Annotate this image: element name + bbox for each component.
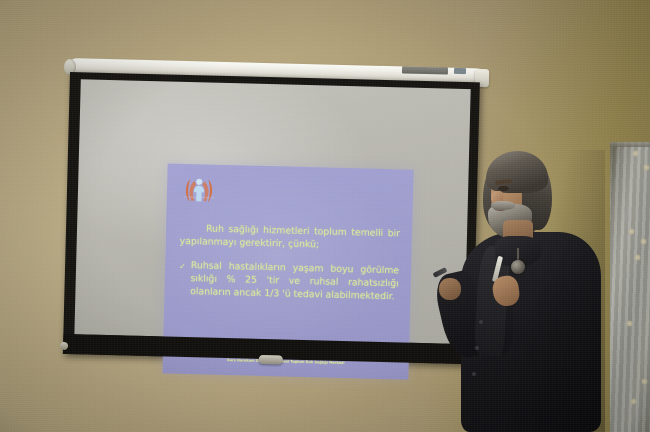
screen-fabric-surface: T.C. SAĞLIK BAKANLIĞI Ruh sağlığı hizmet…	[74, 79, 470, 344]
slide-bullet-text: Ruhsal hastalıkların yaşam boyu görülme …	[190, 261, 399, 305]
curtain-floral-motif	[641, 378, 648, 385]
curtain-floral-motif	[634, 254, 641, 261]
screen-anchor-pin-left	[60, 342, 68, 350]
presenter-left-hand	[439, 278, 461, 300]
jacket-button	[472, 372, 476, 376]
lace-curtain	[610, 142, 650, 432]
curtain-rod	[610, 142, 650, 147]
curtain-floral-motif	[640, 238, 647, 245]
curtain-floral-motif	[630, 398, 637, 405]
projection-screen-unit: T.C. SAĞLIK BAKANLIĞI Ruh sağlığı hizmet…	[58, 58, 483, 355]
curtain-floral-motif	[626, 320, 633, 327]
slide-text-body: Ruh sağlığı hizmetleri toplum temelli bi…	[164, 221, 412, 304]
curtain-floral-motif	[632, 150, 639, 157]
slide-lead-paragraph: Ruh sağlığı hizmetleri toplum temelli bi…	[180, 222, 401, 254]
screen-pull-handle[interactable]	[259, 355, 283, 365]
roller-spec-label	[402, 66, 448, 74]
curtain-floral-motif	[643, 164, 650, 171]
checkmark-icon: ✓	[179, 260, 186, 273]
photo-scene: T.C. SAĞLIK BAKANLIĞI Ruh sağlığı hizmet…	[0, 0, 650, 432]
presenter-mustache	[491, 201, 515, 210]
screen-black-frame: T.C. SAĞLIK BAKANLIĞI Ruh sağlığı hizmet…	[63, 72, 480, 364]
jacket-button	[479, 320, 483, 324]
presenter-hair-top	[486, 151, 548, 193]
curtain-floral-motif	[628, 228, 635, 235]
logo-caption: T.C. SAĞLIK BAKANLIĞI	[173, 196, 225, 201]
jacket-button	[475, 346, 479, 350]
presenter-person	[455, 150, 605, 432]
slide-bullet-item: ✓ Ruhsal hastalıkların yaşam boyu görülm…	[178, 260, 399, 304]
turkish-ministry-of-health-logo	[183, 174, 216, 211]
roller-spec-badge	[454, 68, 466, 74]
presenter-pendant	[511, 260, 525, 274]
